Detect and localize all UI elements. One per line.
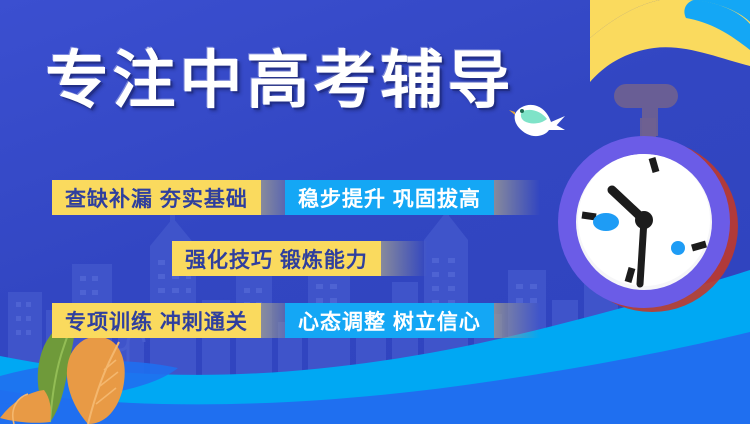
page-title: 专注中高考辅导 bbox=[0, 48, 560, 114]
feature-tag-3[interactable]: 强化技巧 锻炼能力 bbox=[172, 241, 381, 276]
feature-tag-4[interactable]: 专项训练 冲刺通关 bbox=[52, 303, 261, 338]
stopwatch-illustration bbox=[540, 78, 750, 323]
feature-tag-2[interactable]: 稳步提升 巩固拔高 bbox=[285, 180, 494, 215]
feature-tag-1[interactable]: 查缺补漏 夯实基础 bbox=[52, 180, 261, 215]
feature-tag-5[interactable]: 心态调整 树立信心 bbox=[285, 303, 494, 338]
promo-banner: 专注中高考辅导 查缺补漏 夯实基础 稳步提升 巩固拔高 强化技巧 锻炼能力 专项… bbox=[0, 0, 750, 424]
